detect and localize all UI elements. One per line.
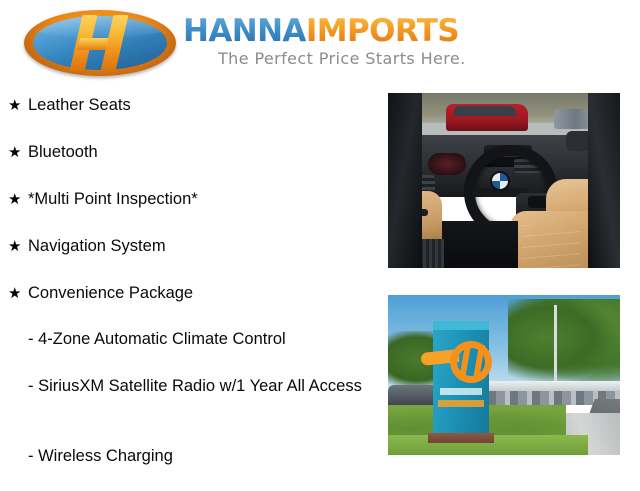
light-pole: [554, 305, 557, 391]
star-bullet-icon: ★: [8, 284, 21, 304]
brand-tagline: The Perfect Price Starts Here.: [218, 49, 466, 68]
instrument-cluster: [428, 153, 466, 175]
list-item: ★ Navigation System: [0, 233, 380, 280]
leather-seat-cushion: [510, 211, 600, 268]
brand-name-hanna: HANNA: [183, 13, 306, 49]
sub-feature-label: - 4-Zone Automatic Climate Control: [28, 330, 286, 348]
pylon-sign-base: [428, 433, 494, 443]
feature-label: Bluetooth: [28, 140, 98, 164]
star-bullet-icon: ★: [8, 190, 21, 210]
pylon-sign-cap: [433, 321, 489, 330]
sub-list-item: - 4-Zone Automatic Climate Control: [0, 327, 372, 374]
right-b-pillar: [588, 93, 620, 268]
star-bullet-icon: ★: [8, 237, 21, 257]
sub-list-item: - Wireless Charging: [0, 444, 372, 491]
page-header: HANNAIMPORTS The Perfect Price Starts He…: [0, 0, 640, 86]
feature-label: Navigation System: [28, 234, 166, 258]
bmw-roundel-icon: [490, 171, 510, 191]
sub-feature-label: - Wireless Charging: [28, 447, 173, 465]
sub-feature-label: - SiriusXM Satellite Radio w/1 Year All …: [28, 377, 362, 395]
list-item: ★ Convenience Package: [0, 280, 380, 327]
sub-list-item: - SiriusXM Satellite Radio w/1 Year All …: [0, 374, 372, 444]
vehicle-interior-photo[interactable]: [388, 93, 620, 268]
list-item: ★ Leather Seats: [0, 92, 380, 139]
brand-name-imports: IMPORTS: [306, 13, 459, 49]
feature-label: Convenience Package: [28, 281, 193, 305]
hanna-oval-h-logo-icon: [24, 10, 176, 76]
left-a-pillar: [388, 93, 422, 268]
trees-right: [508, 299, 620, 383]
feature-label: *Multi Point Inspection*: [28, 187, 198, 211]
sign-text-imports: [438, 400, 484, 407]
star-bullet-icon: ★: [8, 96, 21, 116]
sign-logo-ring-icon: [450, 341, 492, 383]
feature-label: Leather Seats: [28, 93, 131, 117]
vehicle-features-list: ★ Leather Seats ★ Bluetooth ★ *Multi Poi…: [0, 92, 380, 491]
dealership-sign-photo[interactable]: [388, 295, 620, 455]
list-item: ★ Bluetooth: [0, 139, 380, 186]
star-bullet-icon: ★: [8, 143, 21, 163]
background-red-suv-windows: [454, 106, 516, 116]
list-item: ★ *Multi Point Inspection*: [0, 186, 380, 233]
brand-wordmark: HANNAIMPORTS: [183, 13, 459, 47]
sign-text-hanna: [440, 388, 482, 395]
